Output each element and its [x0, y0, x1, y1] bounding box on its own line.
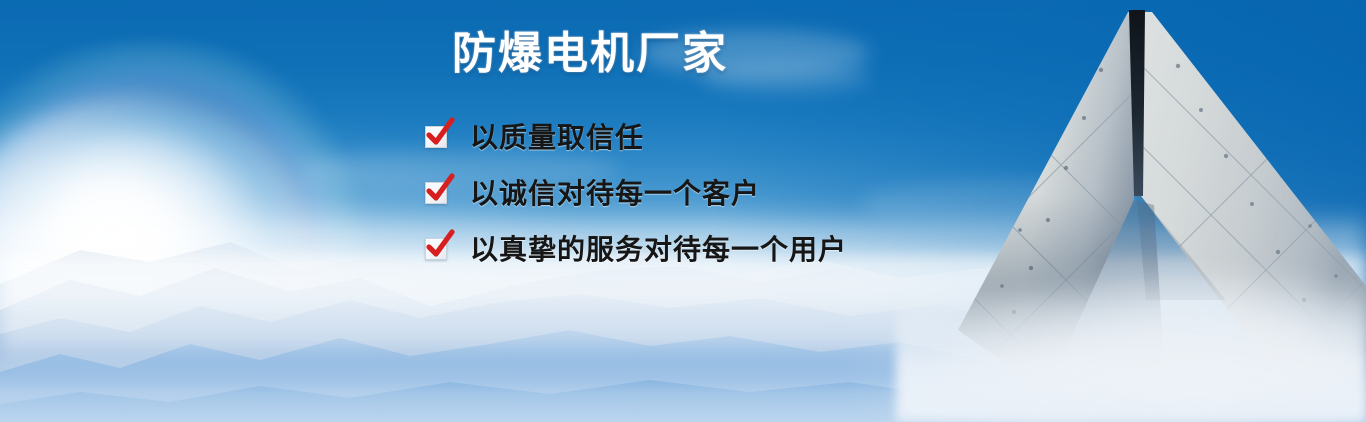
hero-banner: 防爆电机厂家 以质量取信任 以诚信对待每一个客户 [0, 0, 1366, 422]
list-item: 以质量取信任 [424, 108, 847, 164]
red-check-icon [424, 179, 450, 205]
list-item-label: 以真挚的服务对待每一个用户 [470, 228, 847, 268]
concrete-monument-icon [896, 0, 1366, 422]
banner-content: 防爆电机厂家 以质量取信任 以诚信对待每一个客户 [0, 0, 960, 422]
red-check-icon [424, 123, 450, 149]
red-check-icon [424, 235, 450, 261]
feature-list: 以质量取信任 以诚信对待每一个客户 以真挚的服务对待 [424, 108, 847, 276]
list-item-label: 以质量取信任 [470, 116, 644, 156]
banner-headline: 防爆电机厂家 [452, 28, 728, 79]
list-item: 以诚信对待每一个客户 [424, 164, 847, 220]
list-item: 以真挚的服务对待每一个用户 [424, 220, 847, 276]
list-item-label: 以诚信对待每一个客户 [470, 172, 760, 212]
